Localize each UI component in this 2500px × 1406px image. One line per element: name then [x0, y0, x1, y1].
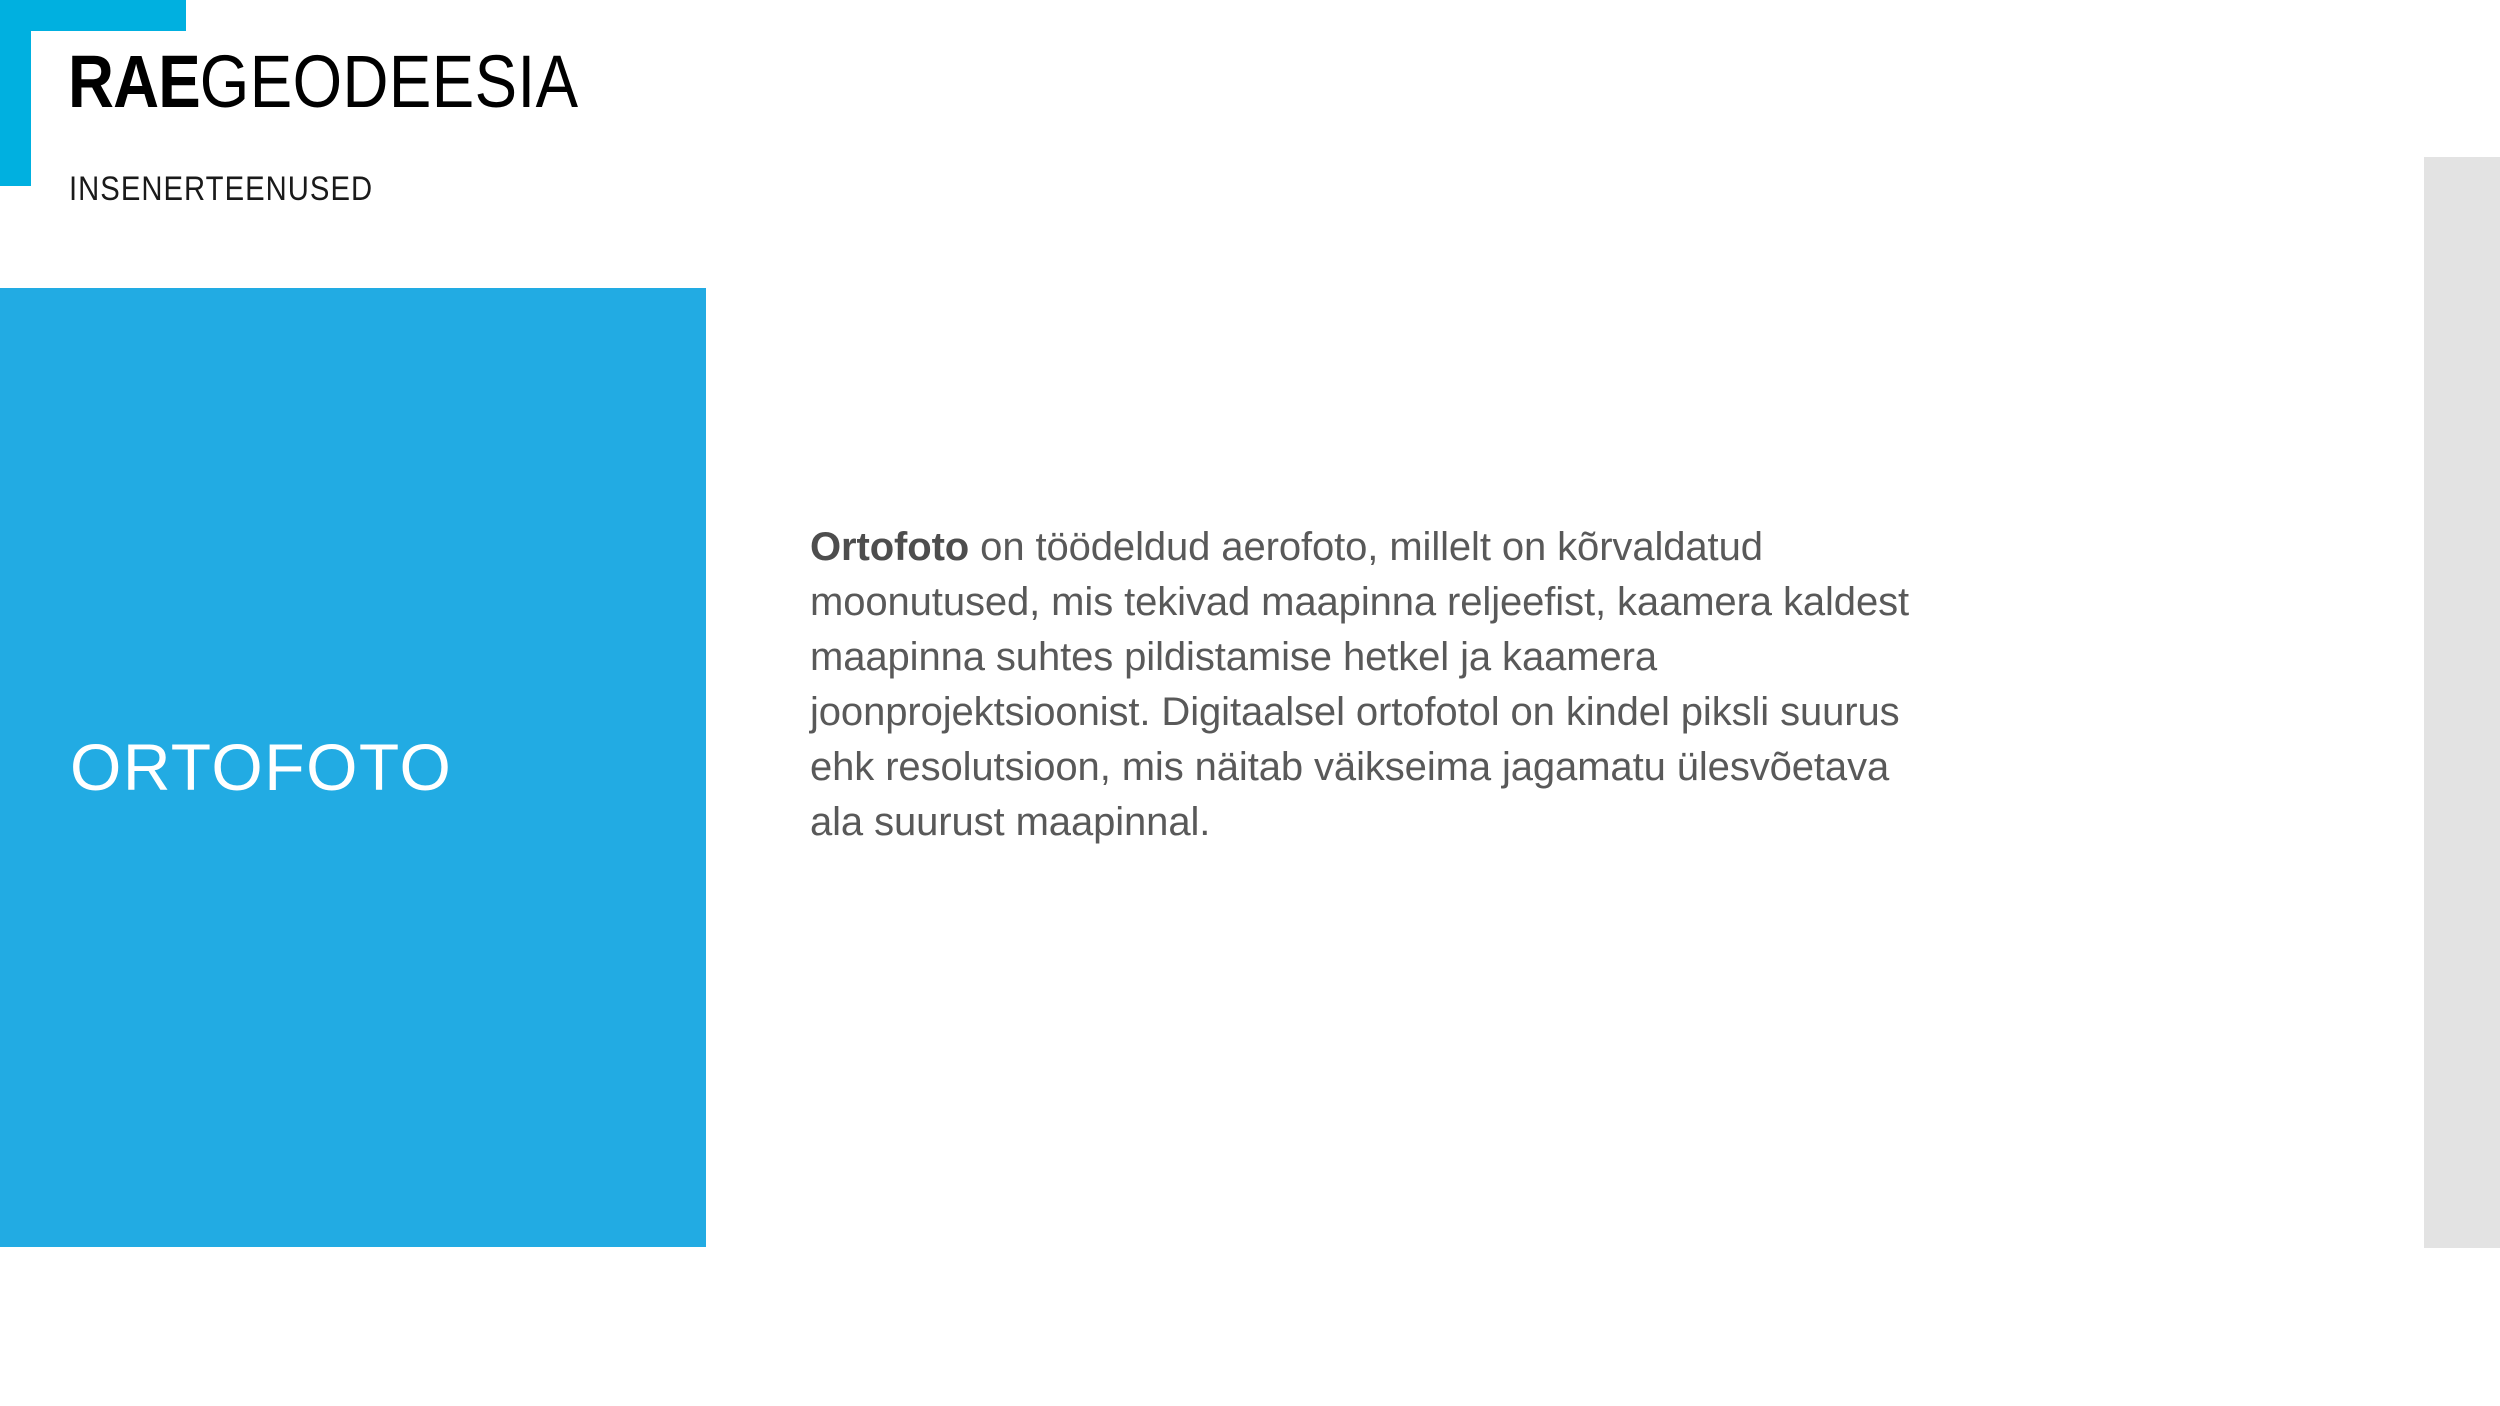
brand-wordmark: RAEGEODEESIA [68, 45, 579, 119]
brand-wordmark-bold: RAE [68, 40, 200, 123]
body-paragraph: Ortofoto on töödeldud aerofoto, millelt … [810, 520, 1920, 850]
body-lead-term: Ortofoto [810, 525, 969, 569]
corner-bracket-left-bar [0, 0, 31, 186]
brand-tagline: INSENERTEENUSED [69, 172, 373, 206]
title-panel: ORTOFOTO [0, 288, 706, 1247]
page-title: ORTOFOTO [70, 288, 690, 1247]
brand-logo: RAEGEODEESIA INSENERTEENUSED [0, 0, 900, 240]
right-side-panel [2424, 157, 2500, 1248]
body-text: on töödeldud aerofoto, millelt on kõrval… [810, 525, 1909, 844]
slide-canvas: RAEGEODEESIA INSENERTEENUSED ORTOFOTO Or… [0, 0, 2500, 1406]
brand-wordmark-light: GEODEESIA [200, 40, 579, 123]
